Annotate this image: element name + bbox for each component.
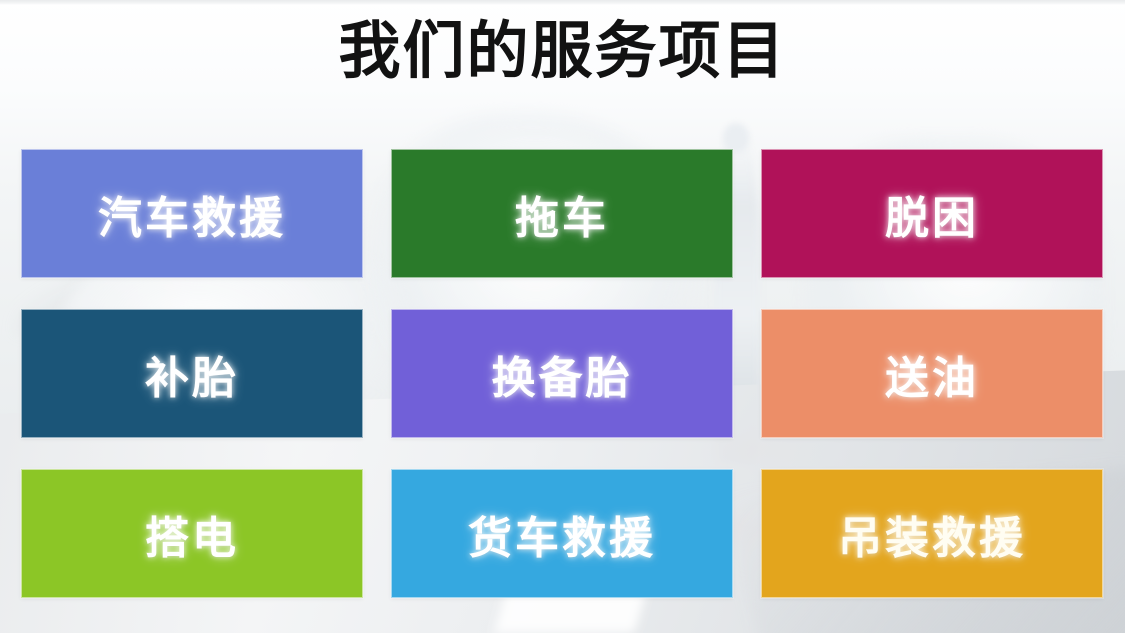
service-grid: 汽车救援拖车脱困补胎换备胎送油搭电货车救援吊装救援 (21, 149, 1104, 598)
service-tile-label: 送油 (885, 342, 979, 406)
service-tile[interactable]: 拖车 (391, 149, 733, 278)
service-tile-label: 脱困 (885, 182, 979, 246)
service-tile-label: 搭电 (145, 502, 239, 566)
service-tile[interactable]: 货车救援 (391, 469, 733, 598)
service-tile[interactable]: 补胎 (21, 309, 363, 438)
service-tile-label: 货车救援 (468, 502, 656, 566)
service-tile[interactable]: 送油 (761, 309, 1103, 438)
service-tile-label: 换备胎 (492, 342, 633, 406)
service-tile[interactable]: 汽车救援 (21, 149, 363, 278)
service-tile-label: 拖车 (515, 182, 609, 246)
page-title: 我们的服务项目 (0, 18, 1125, 86)
service-tile-label: 汽车救援 (98, 182, 286, 246)
service-poster: 我们的服务项目 汽车救援拖车脱困补胎换备胎送油搭电货车救援吊装救援 (0, 0, 1125, 633)
service-tile[interactable]: 换备胎 (391, 309, 733, 438)
service-tile-label: 补胎 (145, 342, 239, 406)
service-tile-label: 吊装救援 (838, 502, 1026, 566)
service-tile[interactable]: 脱困 (761, 149, 1103, 278)
poster-content: 我们的服务项目 汽车救援拖车脱困补胎换备胎送油搭电货车救援吊装救援 (0, 0, 1125, 633)
service-tile[interactable]: 吊装救援 (761, 469, 1103, 598)
service-tile[interactable]: 搭电 (21, 469, 363, 598)
